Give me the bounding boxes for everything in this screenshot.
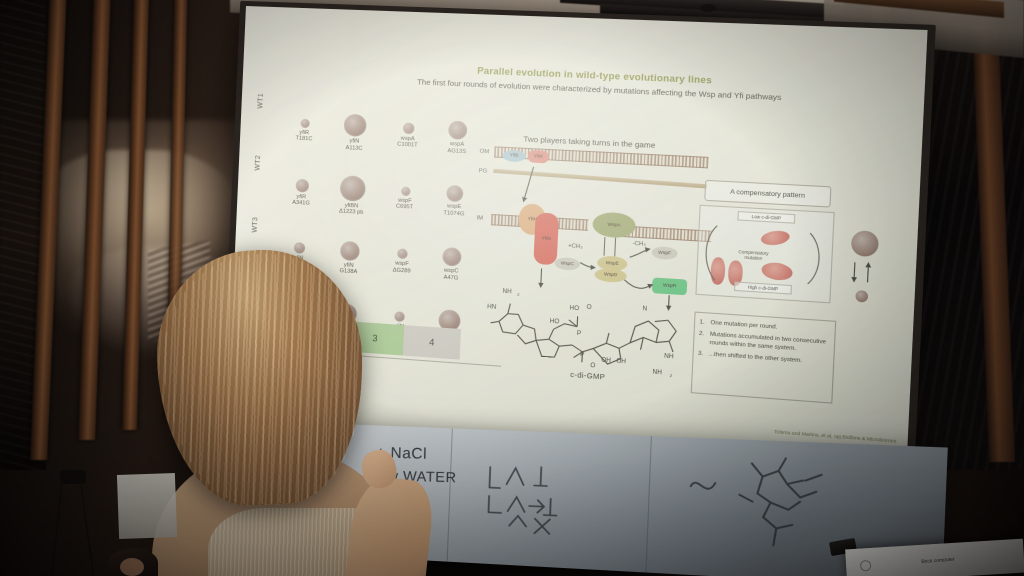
svg-text:OH: OH [601, 357, 611, 364]
protein-wspf: WspF [651, 246, 678, 260]
colony-spot-label: wspA C1001T [383, 134, 433, 151]
protein-yfin: YfiN [533, 212, 559, 265]
colony-spot-group: yfiBN Δ1223 pb [327, 160, 378, 218]
protein-yfir: YfiR [527, 150, 549, 163]
colony-spot-group: wspA C1001T [383, 100, 434, 151]
colony-spot-group: yfiN A113C [330, 98, 381, 154]
colony-spot-group: wspF C695T [380, 163, 431, 213]
colony-row-label: WT3 [252, 217, 260, 233]
colony-spot [400, 186, 410, 196]
label-om: OM [480, 149, 490, 156]
colony-spot [300, 118, 309, 127]
caption-high-cdigmp: High c-di-GMP [734, 281, 792, 294]
colony-row-label: WT1 [257, 93, 265, 109]
peptidoglycan-layer [493, 169, 707, 189]
colony-spot [446, 185, 463, 202]
audience-face [120, 558, 144, 576]
svg-text:NH: NH [664, 353, 674, 360]
colony-spot [442, 247, 461, 267]
svg-text:O: O [590, 363, 596, 370]
colony-spot-group: wspC A47G [426, 229, 478, 284]
svg-text:HO: HO [569, 305, 579, 312]
colony-spot-large [851, 230, 879, 257]
colony-spot-label: yfiBN Δ1223 pb [327, 201, 376, 218]
protein-wspd: WspD [594, 268, 627, 283]
cell-sessile-a [710, 257, 726, 285]
card-logo-icon [860, 560, 872, 572]
cell-biofilm [760, 261, 793, 283]
svg-text:O: O [586, 304, 592, 311]
conclusion-text: One mutation per round. [710, 319, 777, 332]
colony-spot [295, 178, 309, 192]
whiteboard-lattice-sketch [481, 452, 602, 540]
lectern-card-text: Brick computer [878, 553, 998, 568]
colony-spot-group: yfiR A341G [277, 158, 327, 209]
protein-wspc: WspC [554, 257, 580, 271]
colony-spot [343, 114, 366, 137]
svg-text:P: P [580, 352, 585, 359]
annotation-add-methyl: +CH₃ [568, 243, 583, 250]
colony-spot [339, 175, 366, 202]
white-equipment-box [117, 473, 177, 539]
caption-low-cdigmp: Low c-di-GMP [737, 211, 795, 224]
whiteboard-molecule-sketch [681, 450, 843, 574]
colony-row-label: WT2 [254, 155, 262, 171]
conference-room-photo: Parallel evolution in wild-type evolutio… [0, 0, 1024, 576]
conclusions-list: 1.One mutation per round.2.Mutations acc… [691, 312, 837, 404]
colony-spot-label: wspF C695T [380, 196, 430, 213]
svg-text:OH: OH [616, 358, 626, 365]
colony-spot-label: yfiR A341G [277, 192, 326, 209]
compensatory-cycle-diagram: Low c-di-GMP Compensatory mutation High … [695, 205, 834, 304]
colony-spot-label: wspE T1074G [429, 202, 479, 219]
ceiling-vent-icon [700, 4, 716, 12]
colony-spot-label: wspC A47G [426, 266, 476, 283]
colony-spot-group: wspE T1074G [429, 166, 481, 220]
protein-yfib: YfiB [502, 150, 526, 162]
spot-transition-arrows [845, 260, 880, 290]
annotation-remove-methyl: -CH₃ [632, 241, 645, 248]
conclusion-number: 3. [698, 350, 709, 359]
tripod-head [60, 470, 86, 484]
label-im: IM [476, 215, 483, 222]
colony-spot-label: yfiN A113C [330, 137, 379, 154]
svg-text:P: P [577, 331, 582, 338]
compensatory-pattern-title: A compensatory pattern [704, 180, 831, 208]
label-pg: PG [479, 168, 488, 175]
svg-text:HN: HN [487, 304, 496, 311]
svg-text:NH: NH [502, 289, 511, 296]
svg-text:N: N [642, 306, 647, 313]
colony-spot-group: wspA AG13S [432, 102, 484, 156]
colony-spot-group: yfiR T181C [280, 96, 330, 145]
svg-text:HO: HO [550, 319, 560, 326]
cell-planktonic [760, 229, 791, 247]
conclusion-number: 2. [698, 330, 710, 348]
colony-spot-label: yfiR T181C [280, 128, 329, 144]
svg-text:2: 2 [517, 292, 520, 297]
colony-spot-small [855, 290, 868, 302]
colony-spot [448, 121, 468, 140]
colony-spot-label: wspA AG13S [432, 140, 482, 157]
colony-spot [402, 122, 414, 134]
conclusion-number: 1. [699, 318, 710, 327]
